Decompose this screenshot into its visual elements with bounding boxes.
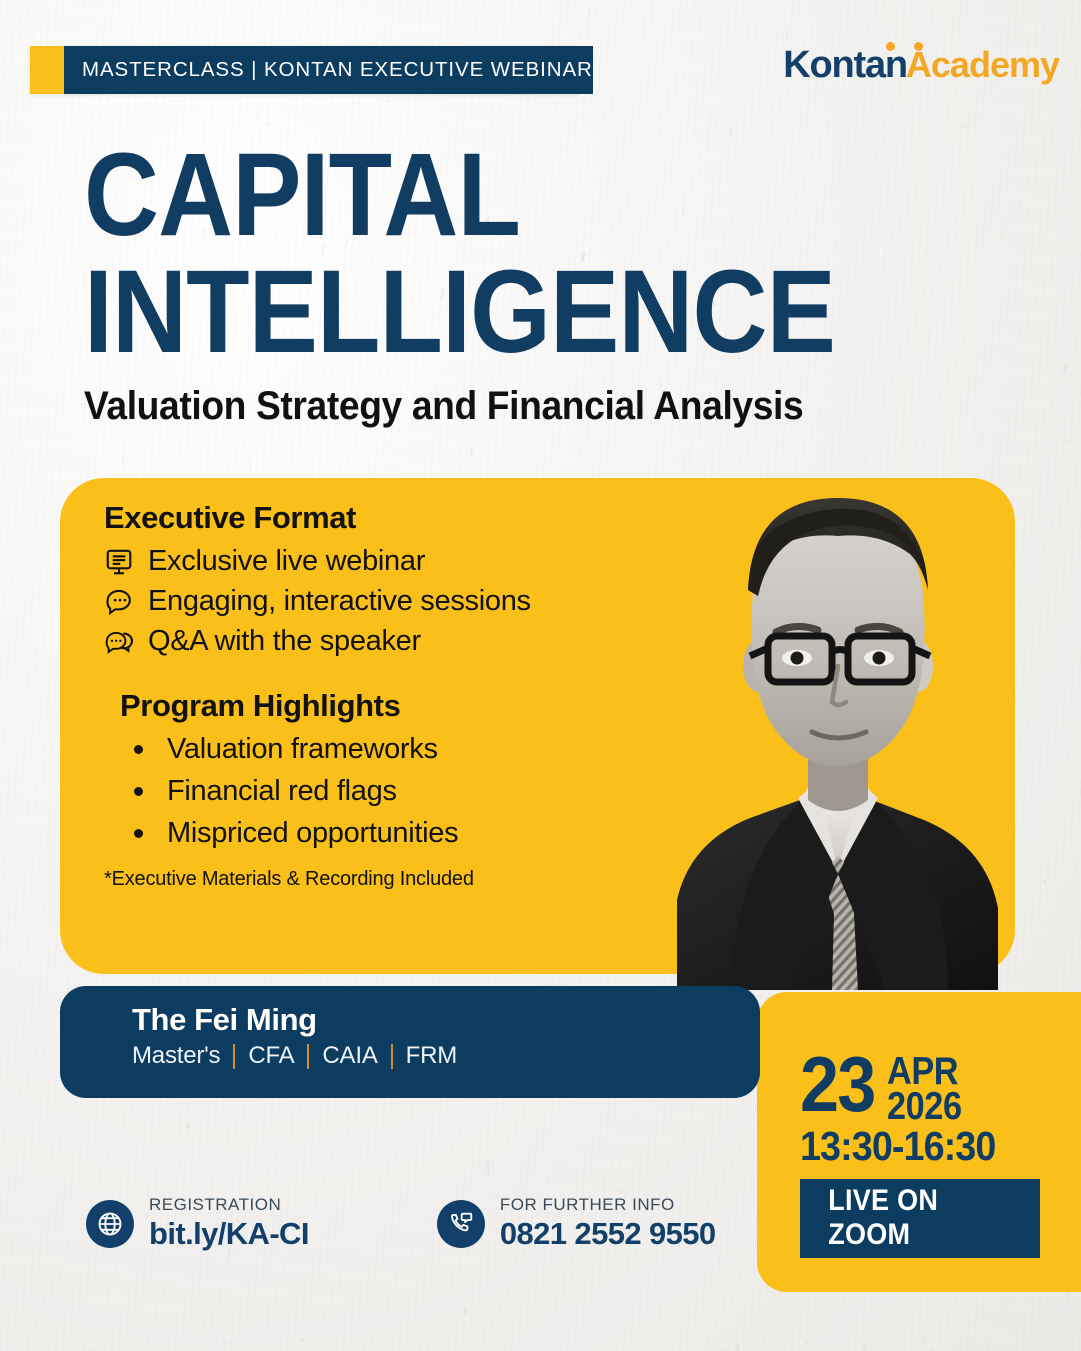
date-day-month-year: 23 APR 2026 [800,1053,1040,1125]
format-item: Engaging, interactive sessions [104,585,704,618]
executive-format-heading: Executive Format [104,500,704,536]
speaker-photo [672,470,1002,990]
contact-block[interactable]: FOR FURTHER INFO 0821 2552 9550 [437,1196,716,1252]
registration-label: REGISTRATION [149,1195,281,1214]
speaker-portrait-image [672,470,1002,990]
registration-text: REGISTRATION bit.ly/KA-CI [149,1196,309,1252]
header-eyebrow-text: MASTERCLASS | KONTAN EXECUTIVE WEBINAR [82,58,593,82]
credential: CAIA [322,1042,377,1070]
event-time: 13:30-16:30 [800,1123,1021,1170]
format-item: Q&A with the speaker [104,625,704,658]
title-block: CAPITAL INTELLIGENCE Valuation Strategy … [84,140,904,429]
highlight-item: Valuation frameworks [134,733,704,766]
header-accent-block [30,46,64,94]
program-highlights-heading: Program Highlights [120,688,704,724]
event-year: 2026 [887,1088,962,1125]
credential: FRM [406,1042,457,1070]
info-card-content: Executive Format Exclusive live webinar … [104,500,704,891]
speech-bubble-icon [104,586,148,618]
event-month: APR [887,1055,962,1088]
highlight-label: Valuation frameworks [167,733,438,766]
format-item: Exclusive live webinar [104,545,704,578]
event-date-block: 23 APR 2026 13:30-16:30 LIVE ON ZOOM [800,1053,1040,1258]
credential: CFA [248,1042,294,1070]
header-eyebrow-bar: MASTERCLASS | KONTAN EXECUTIVE WEBINAR [64,46,593,94]
speaker-name: The Fei Ming [132,1002,760,1038]
page-title-line2: INTELLIGENCE [84,257,806,368]
registration-url[interactable]: bit.ly/KA-CI [149,1216,309,1252]
contact-phone[interactable]: 0821 2552 9550 [500,1216,716,1252]
materials-note: *Executive Materials & Recording Include… [104,868,704,891]
month-year-stack: APR 2026 [887,1055,972,1125]
contact-label: FOR FURTHER INFO [500,1195,675,1214]
globe-icon [86,1200,134,1248]
credential-divider [307,1044,309,1069]
highlight-item: Mispriced opportunities [134,817,704,850]
header-banner: MASTERCLASS | KONTAN EXECUTIVE WEBINAR [30,46,580,94]
kontan-academy-logo: Kontan Academy [783,44,1059,87]
double-speech-bubble-icon [104,626,148,658]
presentation-screen-icon [104,547,148,577]
platform-badge: LIVE ON ZOOM [800,1179,1040,1258]
bullet-dot-icon [134,787,143,796]
phone-message-icon [437,1200,485,1248]
format-item-label: Exclusive live webinar [148,545,425,578]
credential-divider [391,1044,393,1069]
page-title-line1: CAPITAL [84,140,806,251]
highlight-item: Financial red flags [134,775,704,808]
speaker-credentials: Master's CFA CAIA FRM [132,1042,760,1070]
format-item-label: Q&A with the speaker [148,625,421,658]
highlight-label: Financial red flags [167,775,397,808]
logo-academy-text: Academy [906,44,1059,86]
footer-contact-bar: REGISTRATION bit.ly/KA-CI FOR FURTHER IN… [86,1196,716,1252]
bullet-dot-icon [134,745,143,754]
format-item-label: Engaging, interactive sessions [148,585,531,618]
event-day: 23 [800,1053,874,1115]
highlight-label: Mispriced opportunities [167,817,458,850]
credential: Master's [132,1042,220,1070]
bullet-dot-icon [134,829,143,838]
speaker-bar: The Fei Ming Master's CFA CAIA FRM [60,986,760,1098]
speaker-info: The Fei Ming Master's CFA CAIA FRM [60,986,760,1070]
page-subtitle: Valuation Strategy and Financial Analysi… [84,384,847,429]
credential-divider [233,1044,235,1069]
contact-text: FOR FURTHER INFO 0821 2552 9550 [500,1196,716,1252]
registration-block[interactable]: REGISTRATION bit.ly/KA-CI [86,1196,309,1252]
platform-badge-label: LIVE ON ZOOM [828,1184,1012,1252]
